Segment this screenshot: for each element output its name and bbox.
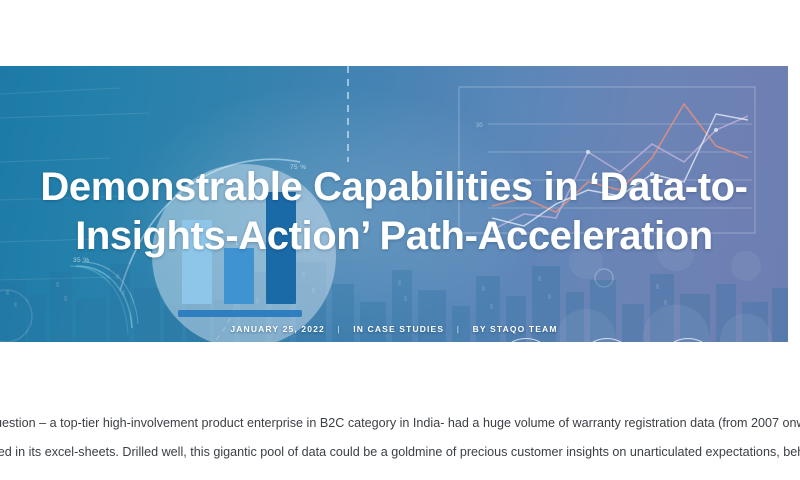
post-category[interactable]: IN CASE STUDIES — [353, 324, 444, 334]
meta-separator-2: | — [457, 324, 460, 334]
article-line-1: question – a top-tier high-involvement p… — [0, 409, 800, 438]
article-paragraph: question – a top-tier high-involvement p… — [0, 409, 800, 467]
page-root: 30 10 37.91% 31.86% 30.23% 75 % 35 % — [0, 0, 800, 480]
article-line-2: sted in its excel-sheets. Drilled well, … — [0, 438, 800, 467]
post-author[interactable]: BY STAQO TEAM — [473, 324, 558, 334]
hero-banner: 30 10 37.91% 31.86% 30.23% 75 % 35 % — [0, 66, 788, 342]
page-title: Demonstrable Capabilities in ‘Data-to- I… — [0, 163, 788, 261]
meta-separator-1: | — [337, 324, 340, 334]
svg-text:30: 30 — [476, 123, 483, 129]
post-meta: JANUARY 25, 2022 | IN CASE STUDIES | BY … — [0, 324, 788, 334]
post-date: JANUARY 25, 2022 — [230, 324, 324, 334]
